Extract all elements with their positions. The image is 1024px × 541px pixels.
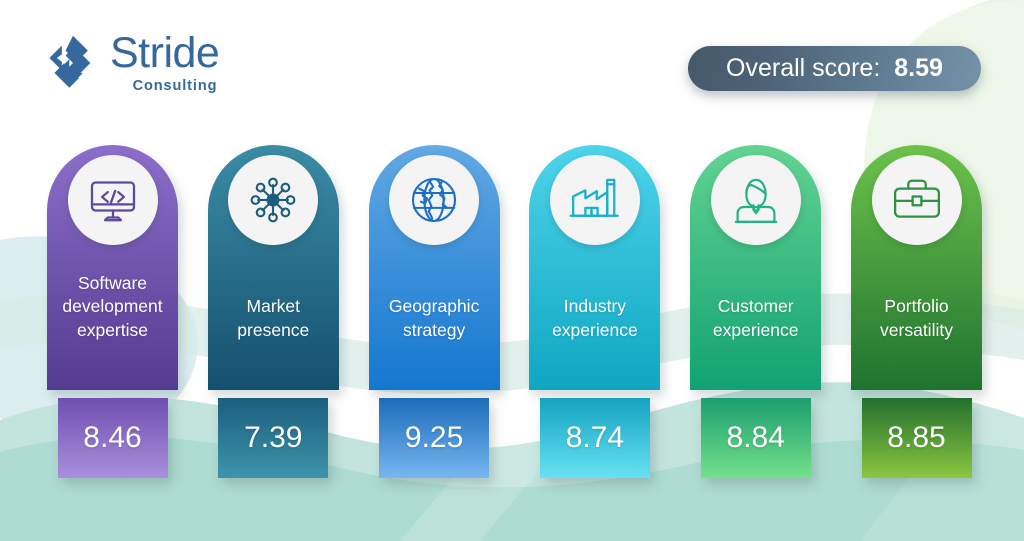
pillar-icon-medallion [68,155,158,245]
infographic-canvas: Stride Consulting Overall score: 8.59 So… [0,0,1024,541]
pillar-label-line: Customer [694,295,817,318]
pillar-score-value: 8.46 [83,421,141,455]
pillar-label-line: presence [212,319,335,342]
globe-icon [406,172,462,228]
pillar-label-line: Industry [533,295,656,318]
pillar-label-line: versatility [855,319,978,342]
code-monitor-icon [85,172,141,228]
pillar-score-value: 9.25 [405,421,463,455]
pillar-label: Geographicstrategy [369,295,500,390]
pillar-score-value: 7.39 [244,421,302,455]
pillar-icon-medallion [389,155,479,245]
pillar-label-line: Market [212,295,335,318]
pillar-label-line: development [51,295,174,318]
pillar-icon-medallion [228,155,318,245]
pillar-score-value: 8.84 [726,421,784,455]
score-pillar-row: Softwaredevelopmentexpertise8.46Marketpr… [0,0,1024,541]
pillar-label: Portfolioversatility [851,295,982,390]
pillar-score-card: 8.85 [862,398,972,478]
pillar-label-line: Software [51,272,174,295]
pillar-icon-medallion [872,155,962,245]
pillar-label-line: Portfolio [855,295,978,318]
pillar-icon-medallion [711,155,801,245]
pillar-label: Softwaredevelopmentexpertise [47,272,178,390]
pillar-label: Customerexperience [690,295,821,390]
pillar-label-line: experience [694,319,817,342]
pillar-label-line: Geographic [373,295,496,318]
pillar-score-card: 8.46 [58,398,168,478]
pillar-score-card: 8.74 [540,398,650,478]
pillar-label-line: expertise [51,319,174,342]
pillar-label-line: experience [533,319,656,342]
pillar-label: Marketpresence [208,295,339,390]
pillar-label: Industryexperience [529,295,660,390]
pillar-score-value: 8.74 [566,421,624,455]
score-pillar: Industryexperience [529,145,660,390]
briefcase-icon [889,172,945,228]
factory-icon [567,172,623,228]
score-pillar: Portfolioversatility [851,145,982,390]
score-pillar: Marketpresence [208,145,339,390]
pillar-score-card: 8.84 [701,398,811,478]
score-pillar: Customerexperience [690,145,821,390]
score-pillar: Softwaredevelopmentexpertise [47,145,178,390]
customer-person-icon [728,172,784,228]
network-hub-icon [245,172,301,228]
pillar-score-card: 9.25 [379,398,489,478]
pillar-label-line: strategy [373,319,496,342]
pillar-score-value: 8.85 [887,421,945,455]
score-pillar: Geographicstrategy [369,145,500,390]
pillar-icon-medallion [550,155,640,245]
pillar-score-card: 7.39 [218,398,328,478]
